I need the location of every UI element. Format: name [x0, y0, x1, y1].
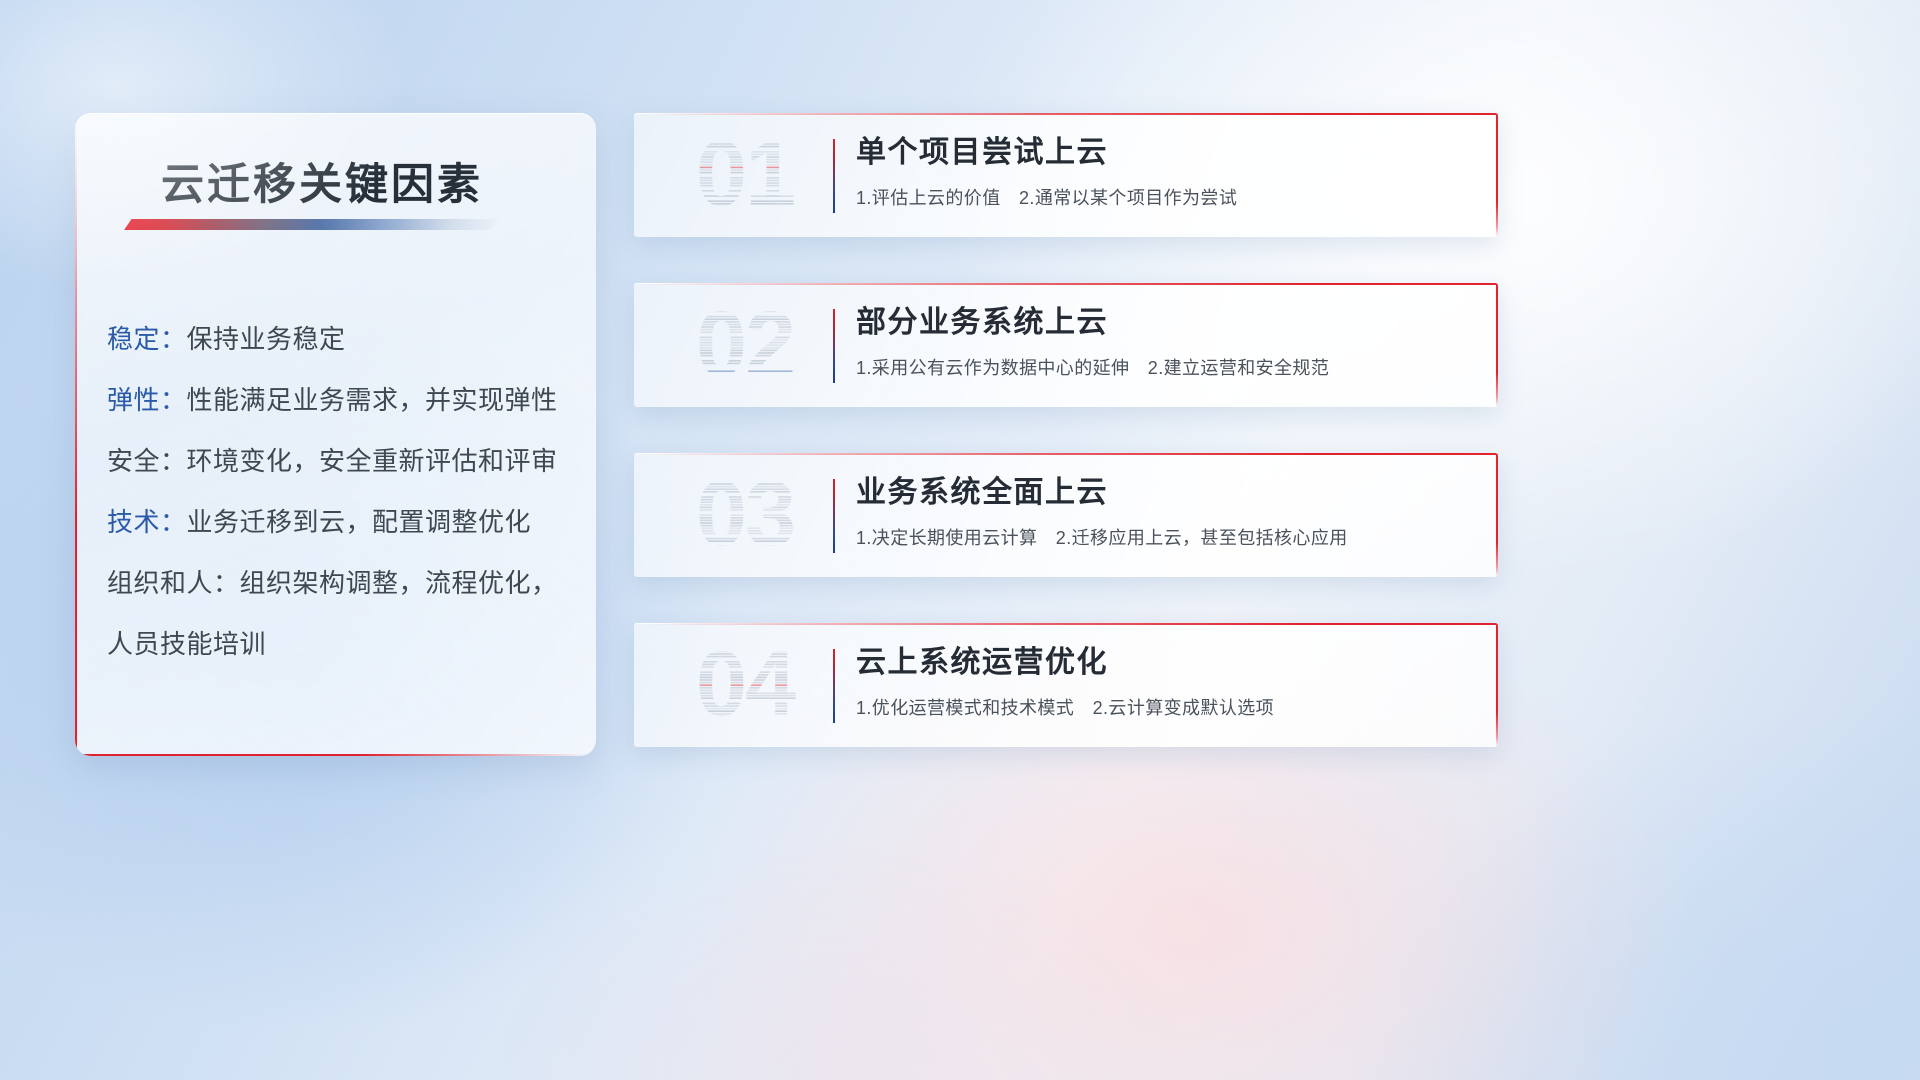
card-title: 业务系统全面上云 — [856, 473, 1474, 514]
factor-text: 保持业务稳定 — [187, 324, 346, 354]
factor-row: 人员技能培训 — [107, 614, 574, 675]
title-gradient-rule — [124, 219, 501, 230]
card-description: 1.评估上云的价值 2.通常以某个项目作为尝试 — [856, 184, 1474, 210]
card-description: 1.优化运营模式和技术模式 2.云计算变成默认选项 — [856, 694, 1474, 720]
card-top-accent-border — [644, 283, 1498, 285]
step-number-glitch-icon: 03 — [670, 465, 820, 565]
card-body: 单个项目尝试上云 1.评估上云的价值 2.通常以某个项目作为尝试 — [856, 133, 1474, 210]
factor-text: 人员技能培训 — [107, 629, 266, 659]
factor-row: 稳定：保持业务稳定 — [107, 309, 574, 370]
factor-list: 稳定：保持业务稳定 弹性：性能满足业务需求，并实现弹性 安全：环境变化，安全重新… — [107, 309, 574, 675]
card-divider-line — [833, 479, 835, 553]
factor-label: 弹性： — [107, 385, 187, 415]
step-number-03-icon: 03 — [670, 465, 820, 565]
factor-label: 技术： — [107, 507, 187, 537]
card-title: 单个项目尝试上云 — [856, 133, 1474, 174]
step-number-02-icon: 02 — [670, 295, 820, 395]
step-number-04-icon: 04 — [670, 635, 820, 735]
card-divider-line — [833, 309, 835, 383]
card-divider-line — [833, 649, 835, 723]
card-divider-line — [833, 139, 835, 213]
card-description: 1.采用公有云作为数据中心的延伸 2.建立运营和安全规范 — [856, 354, 1474, 380]
card-description: 1.决定长期使用云计算 2.迁移应用上云，甚至包括核心应用 — [856, 524, 1474, 550]
factor-text: 组织架构调整，流程优化， — [240, 568, 558, 598]
key-factors-panel: 云迁移关键因素 稳定：保持业务稳定 弹性：性能满足业务需求，并实现弹性 安全：环… — [75, 113, 596, 756]
card-body: 部分业务系统上云 1.采用公有云作为数据中心的延伸 2.建立运营和安全规范 — [856, 303, 1474, 380]
page-title: 云迁移关键因素 — [161, 150, 483, 212]
card-right-accent-border — [1496, 113, 1498, 237]
card-body: 业务系统全面上云 1.决定长期使用云计算 2.迁移应用上云，甚至包括核心应用 — [856, 473, 1474, 550]
card-title: 云上系统运营优化 — [856, 643, 1474, 684]
card-top-accent-border — [644, 623, 1498, 625]
card-title: 部分业务系统上云 — [856, 303, 1474, 344]
card-body: 云上系统运营优化 1.优化运营模式和技术模式 2.云计算变成默认选项 — [856, 643, 1474, 720]
factor-row: 技术：业务迁移到云，配置调整优化 — [107, 492, 574, 553]
card-right-accent-border — [1496, 623, 1498, 747]
card-right-accent-border — [1496, 453, 1498, 577]
step-card[interactable]: 04 云上系统运营优化 1.优化运营模式和技术模式 2.云计算变成默认选项 — [634, 623, 1498, 747]
step-number-glitch-icon: 01 — [670, 125, 820, 225]
factor-text: 性能满足业务需求，并实现弹性 — [187, 385, 558, 415]
step-card[interactable]: 01 单个项目尝试上云 1.评估上云的价值 2.通常以某个项目作为尝试 — [634, 113, 1498, 237]
factor-row: 组织和人：组织架构调整，流程优化， — [107, 553, 574, 614]
card-top-accent-border — [644, 113, 1498, 115]
factor-text: 业务迁移到云，配置调整优化 — [187, 507, 532, 537]
factor-label: 稳定： — [107, 324, 187, 354]
card-top-accent-border — [644, 453, 1498, 455]
slide-canvas: 云迁移关键因素 稳定：保持业务稳定 弹性：性能满足业务需求，并实现弹性 安全：环… — [0, 0, 1920, 1080]
panel-bottom-accent-border — [75, 754, 590, 756]
step-number-glitch-icon: 04 — [670, 635, 820, 735]
factor-label: 组织和人： — [107, 568, 240, 598]
factor-row: 安全：环境变化，安全重新评估和评审 — [107, 431, 574, 492]
step-card[interactable]: 02 部分业务系统上云 1.采用公有云作为数据中心的延伸 2.建立运营和安全规范 — [634, 283, 1498, 407]
panel-left-accent-border — [75, 121, 77, 756]
factor-text: 环境变化，安全重新评估和评审 — [187, 446, 558, 476]
step-number-glitch-icon: 02 — [670, 295, 820, 395]
step-card[interactable]: 03 业务系统全面上云 1.决定长期使用云计算 2.迁移应用上云，甚至包括核心应… — [634, 453, 1498, 577]
factor-label: 安全： — [107, 446, 187, 476]
factor-row: 弹性：性能满足业务需求，并实现弹性 — [107, 370, 574, 431]
step-number-01-icon: 01 — [670, 125, 820, 225]
card-right-accent-border — [1496, 283, 1498, 407]
